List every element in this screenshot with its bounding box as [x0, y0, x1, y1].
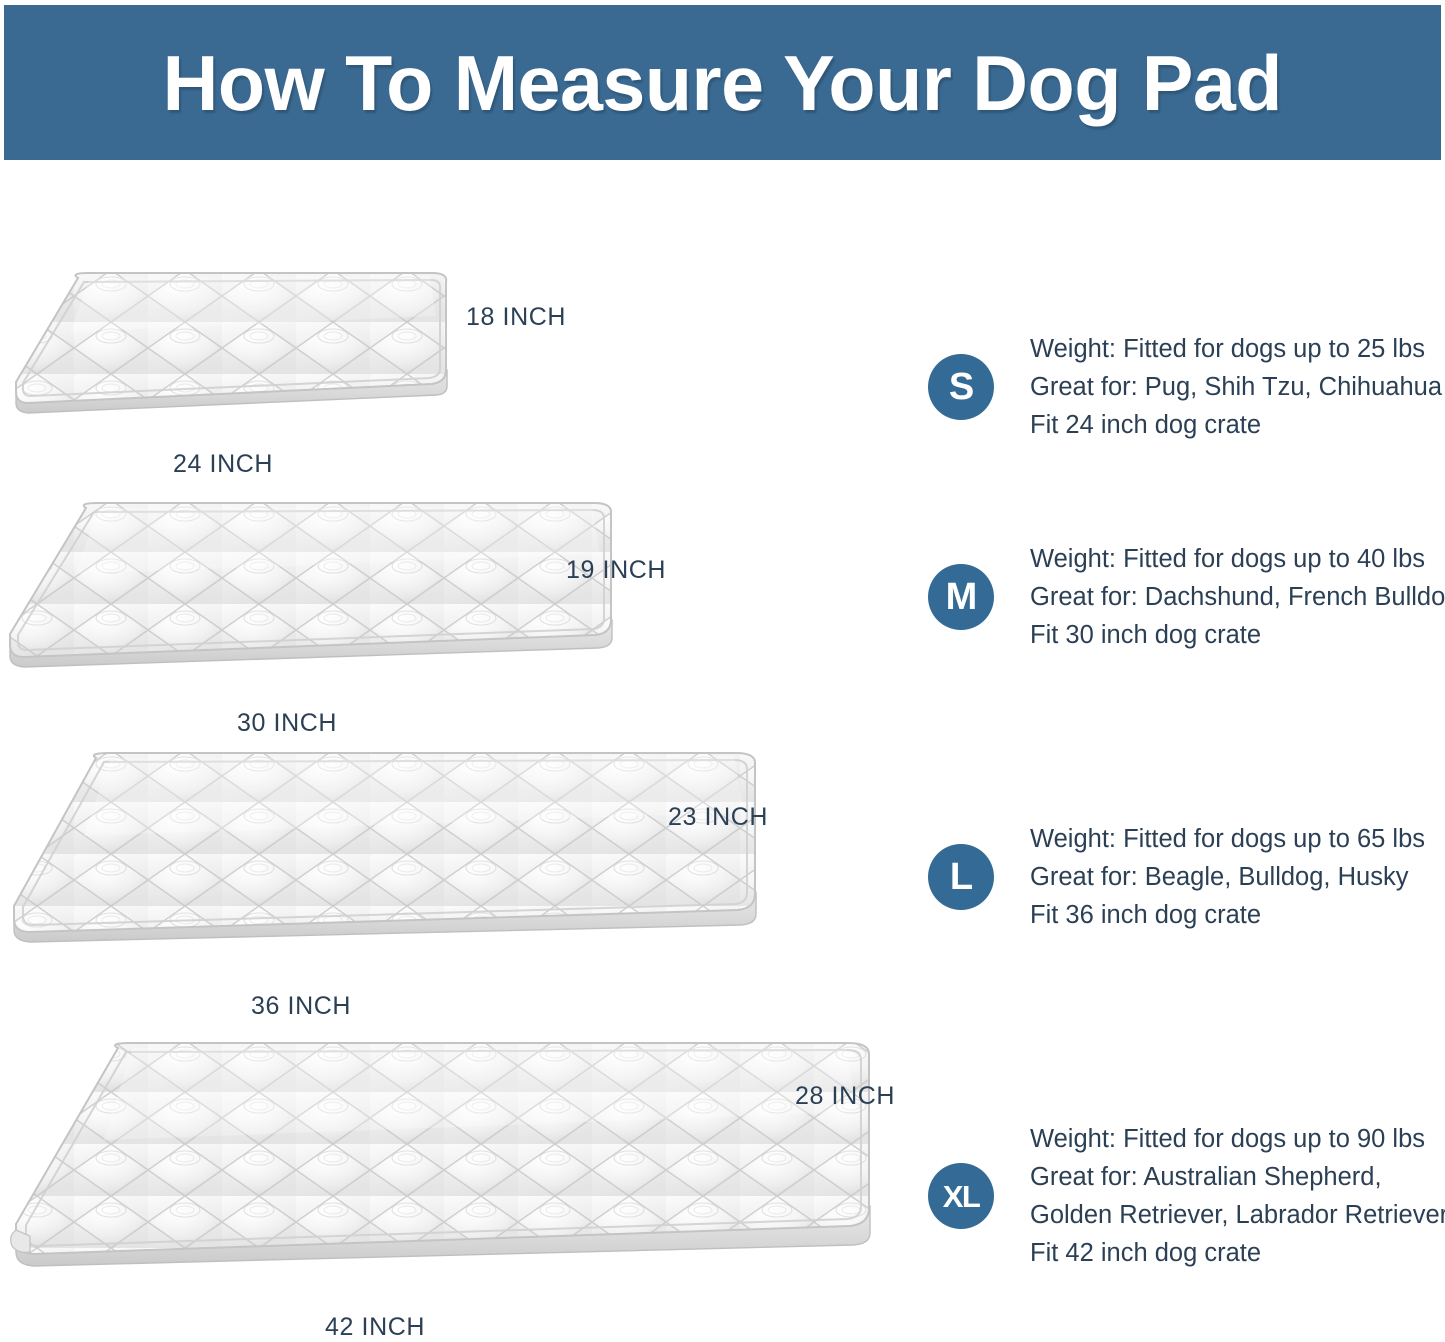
pad-image-l: [0, 750, 780, 970]
size-weight-m: Weight: Fitted for dogs up to 40 lbs: [1030, 540, 1445, 578]
size-badge-s[interactable]: S: [928, 354, 994, 420]
size-breeds-m: Great for: Dachshund, French Bulldog: [1030, 578, 1445, 616]
pad-width-label-s: 24 INCH: [173, 450, 273, 479]
size-breeds-xl: Great for: Australian Shepherd,: [1030, 1158, 1445, 1196]
size-weight-xl: Weight: Fitted for dogs up to 90 lbs: [1030, 1120, 1445, 1158]
size-details-s: Weight: Fitted for dogs up to 25 lbs Gre…: [1030, 330, 1442, 444]
size-crate-xl: Fit 42 inch dog crate: [1030, 1234, 1445, 1272]
size-breeds-l: Great for: Beagle, Bulldog, Husky: [1030, 858, 1425, 896]
size-weight-l: Weight: Fitted for dogs up to 65 lbs: [1030, 820, 1425, 858]
pad-width-label-xl: 42 INCH: [325, 1313, 425, 1342]
size-breeds-s: Great for: Pug, Shih Tzu, Chihuahua: [1030, 368, 1442, 406]
size-weight-s: Weight: Fitted for dogs up to 25 lbs: [1030, 330, 1442, 368]
pad-image-s: [0, 270, 450, 435]
size-info-s: S Weight: Fitted for dogs up to 25 lbs G…: [928, 330, 1442, 444]
size-info-m: M Weight: Fitted for dogs up to 40 lbs G…: [928, 540, 1445, 654]
size-details-l: Weight: Fitted for dogs up to 65 lbs Gre…: [1030, 820, 1425, 934]
size-badge-l[interactable]: L: [928, 844, 994, 910]
pad-image-m: [0, 500, 640, 690]
page-title: How To Measure Your Dog Pad: [163, 44, 1282, 122]
size-breeds2-xl: Golden Retriever, Labrador Retriever: [1030, 1196, 1445, 1234]
pad-image-xl: [0, 1040, 900, 1300]
size-crate-m: Fit 30 inch dog crate: [1030, 616, 1445, 654]
pad-width-label-l: 36 INCH: [251, 992, 351, 1021]
pad-depth-label-m: 19 INCH: [566, 556, 666, 585]
size-crate-s: Fit 24 inch dog crate: [1030, 406, 1442, 444]
page-header-banner: How To Measure Your Dog Pad: [4, 5, 1441, 160]
size-badge-m[interactable]: M: [928, 564, 994, 630]
size-badge-xl[interactable]: XL: [928, 1163, 994, 1229]
size-info-xl: XL Weight: Fitted for dogs up to 90 lbs …: [928, 1120, 1445, 1272]
size-crate-l: Fit 36 inch dog crate: [1030, 896, 1425, 934]
size-details-xl: Weight: Fitted for dogs up to 90 lbs Gre…: [1030, 1120, 1445, 1272]
size-info-l: L Weight: Fitted for dogs up to 65 lbs G…: [928, 820, 1425, 934]
pad-depth-label-xl: 28 INCH: [795, 1082, 895, 1111]
pad-depth-label-s: 18 INCH: [466, 303, 566, 332]
main-content: 18 INCH 24 INCH 19 INCH 30 INCH 23 INCH: [0, 160, 1445, 1323]
pad-width-label-m: 30 INCH: [237, 709, 337, 738]
pad-depth-label-l: 23 INCH: [668, 803, 768, 832]
size-details-m: Weight: Fitted for dogs up to 40 lbs Gre…: [1030, 540, 1445, 654]
